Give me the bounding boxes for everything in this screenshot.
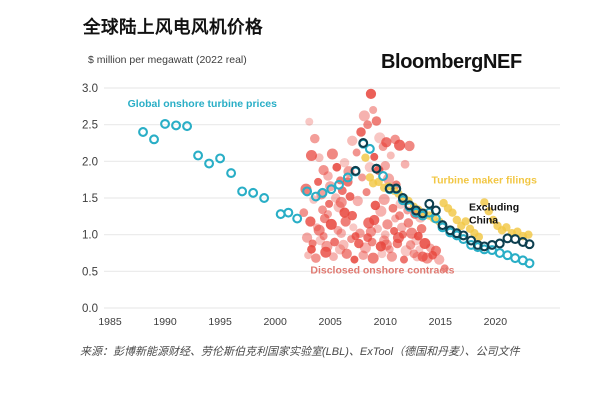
data-point bbox=[363, 120, 372, 129]
svg-text:2020: 2020 bbox=[484, 316, 508, 328]
data-point bbox=[387, 151, 395, 159]
data-point bbox=[400, 256, 408, 264]
data-point bbox=[511, 254, 519, 262]
data-point bbox=[307, 245, 316, 254]
data-point bbox=[504, 251, 512, 259]
data-point bbox=[238, 188, 246, 196]
data-point bbox=[284, 209, 292, 217]
data-point bbox=[366, 89, 376, 99]
data-point bbox=[310, 134, 320, 144]
data-point bbox=[358, 250, 368, 260]
data-point bbox=[415, 245, 423, 253]
annotation-label: China bbox=[469, 214, 498, 226]
svg-text:2015: 2015 bbox=[429, 316, 453, 328]
data-point bbox=[323, 171, 333, 181]
data-point bbox=[139, 128, 147, 136]
data-point bbox=[379, 194, 390, 205]
data-point bbox=[488, 241, 496, 249]
annotation-label: Disclosed onshore contracts bbox=[310, 265, 454, 277]
data-point bbox=[504, 234, 512, 242]
svg-text:1990: 1990 bbox=[153, 316, 177, 328]
svg-text:3.0: 3.0 bbox=[82, 83, 98, 95]
data-point bbox=[431, 246, 441, 256]
svg-text:2.5: 2.5 bbox=[82, 120, 98, 132]
svg-text:2.0: 2.0 bbox=[82, 156, 98, 168]
svg-text:2000: 2000 bbox=[263, 316, 287, 328]
data-point bbox=[172, 122, 180, 130]
scatter-chart: 0.00.51.01.52.02.53.01985199019952000200… bbox=[0, 0, 600, 400]
data-point bbox=[387, 252, 397, 262]
data-point bbox=[194, 152, 202, 160]
data-point bbox=[353, 196, 363, 206]
data-point bbox=[404, 141, 414, 151]
data-point bbox=[412, 252, 422, 262]
data-point bbox=[325, 200, 333, 208]
series-excluding-china bbox=[352, 139, 534, 250]
data-point bbox=[361, 153, 369, 161]
data-point bbox=[336, 228, 346, 238]
data-point bbox=[320, 232, 328, 240]
data-point bbox=[353, 149, 361, 157]
chart-page: 全球陆上风电风机价格 $ million per megawatt (2022 … bbox=[0, 0, 600, 400]
annotation-label: Excluding bbox=[469, 201, 519, 213]
data-point bbox=[324, 210, 332, 218]
data-point bbox=[370, 153, 378, 161]
data-point bbox=[434, 254, 444, 264]
data-point bbox=[350, 256, 358, 264]
data-point bbox=[372, 116, 382, 126]
data-point bbox=[339, 208, 349, 218]
data-point bbox=[394, 140, 405, 151]
svg-text:1995: 1995 bbox=[208, 316, 232, 328]
data-point bbox=[332, 163, 341, 172]
data-point bbox=[249, 189, 257, 197]
data-point bbox=[335, 244, 345, 254]
data-point bbox=[496, 249, 504, 257]
data-point bbox=[315, 153, 324, 162]
data-point bbox=[382, 219, 392, 229]
data-point bbox=[369, 215, 379, 225]
data-point bbox=[417, 224, 427, 234]
data-point bbox=[511, 235, 519, 243]
data-point bbox=[425, 200, 433, 208]
plot-svg: 0.00.51.01.52.02.53.01985199019952000200… bbox=[0, 0, 600, 400]
data-point bbox=[314, 178, 322, 186]
data-point bbox=[524, 230, 532, 238]
x-axis-ticks: 19851990199520002005201020152020 bbox=[98, 316, 507, 328]
data-point bbox=[496, 240, 504, 248]
svg-text:2005: 2005 bbox=[319, 316, 343, 328]
data-point bbox=[311, 253, 321, 263]
svg-text:1.5: 1.5 bbox=[82, 193, 98, 205]
data-point bbox=[340, 158, 350, 168]
data-point bbox=[329, 252, 338, 261]
data-point bbox=[352, 232, 360, 240]
data-point bbox=[277, 210, 285, 218]
data-point bbox=[327, 148, 338, 159]
data-point bbox=[395, 211, 404, 220]
data-point bbox=[411, 236, 421, 246]
data-point bbox=[349, 223, 357, 231]
data-point bbox=[293, 215, 301, 223]
data-point bbox=[359, 110, 370, 121]
data-point bbox=[448, 208, 456, 216]
svg-text:1.0: 1.0 bbox=[82, 230, 98, 242]
data-point bbox=[363, 233, 372, 242]
data-point bbox=[375, 206, 386, 217]
source-note: 来源：彭博新能源财经、劳伦斯伯克利国家实验室(LBL)、ExTool（德国和丹麦… bbox=[80, 345, 530, 361]
data-point bbox=[161, 120, 169, 128]
data-point bbox=[347, 136, 357, 146]
data-point bbox=[381, 137, 391, 147]
data-point bbox=[399, 231, 407, 239]
data-point bbox=[363, 188, 371, 196]
data-point bbox=[404, 218, 414, 228]
annotation-label: Global onshore turbine prices bbox=[128, 98, 278, 110]
data-point bbox=[369, 106, 377, 114]
data-point bbox=[378, 249, 387, 258]
svg-text:0.0: 0.0 bbox=[82, 303, 98, 315]
svg-text:1985: 1985 bbox=[98, 316, 122, 328]
data-point bbox=[227, 169, 235, 177]
data-point bbox=[381, 239, 392, 250]
data-point bbox=[150, 135, 158, 143]
data-point bbox=[401, 160, 410, 169]
data-point bbox=[366, 145, 374, 153]
data-point bbox=[183, 122, 191, 130]
y-axis-ticks: 0.00.51.01.52.02.53.0 bbox=[82, 83, 98, 315]
data-point bbox=[368, 253, 379, 264]
svg-text:0.5: 0.5 bbox=[82, 266, 98, 278]
svg-text:2010: 2010 bbox=[374, 316, 398, 328]
data-point bbox=[356, 127, 366, 137]
annotation-label: Turbine maker filings bbox=[432, 174, 538, 186]
data-point bbox=[305, 118, 313, 126]
